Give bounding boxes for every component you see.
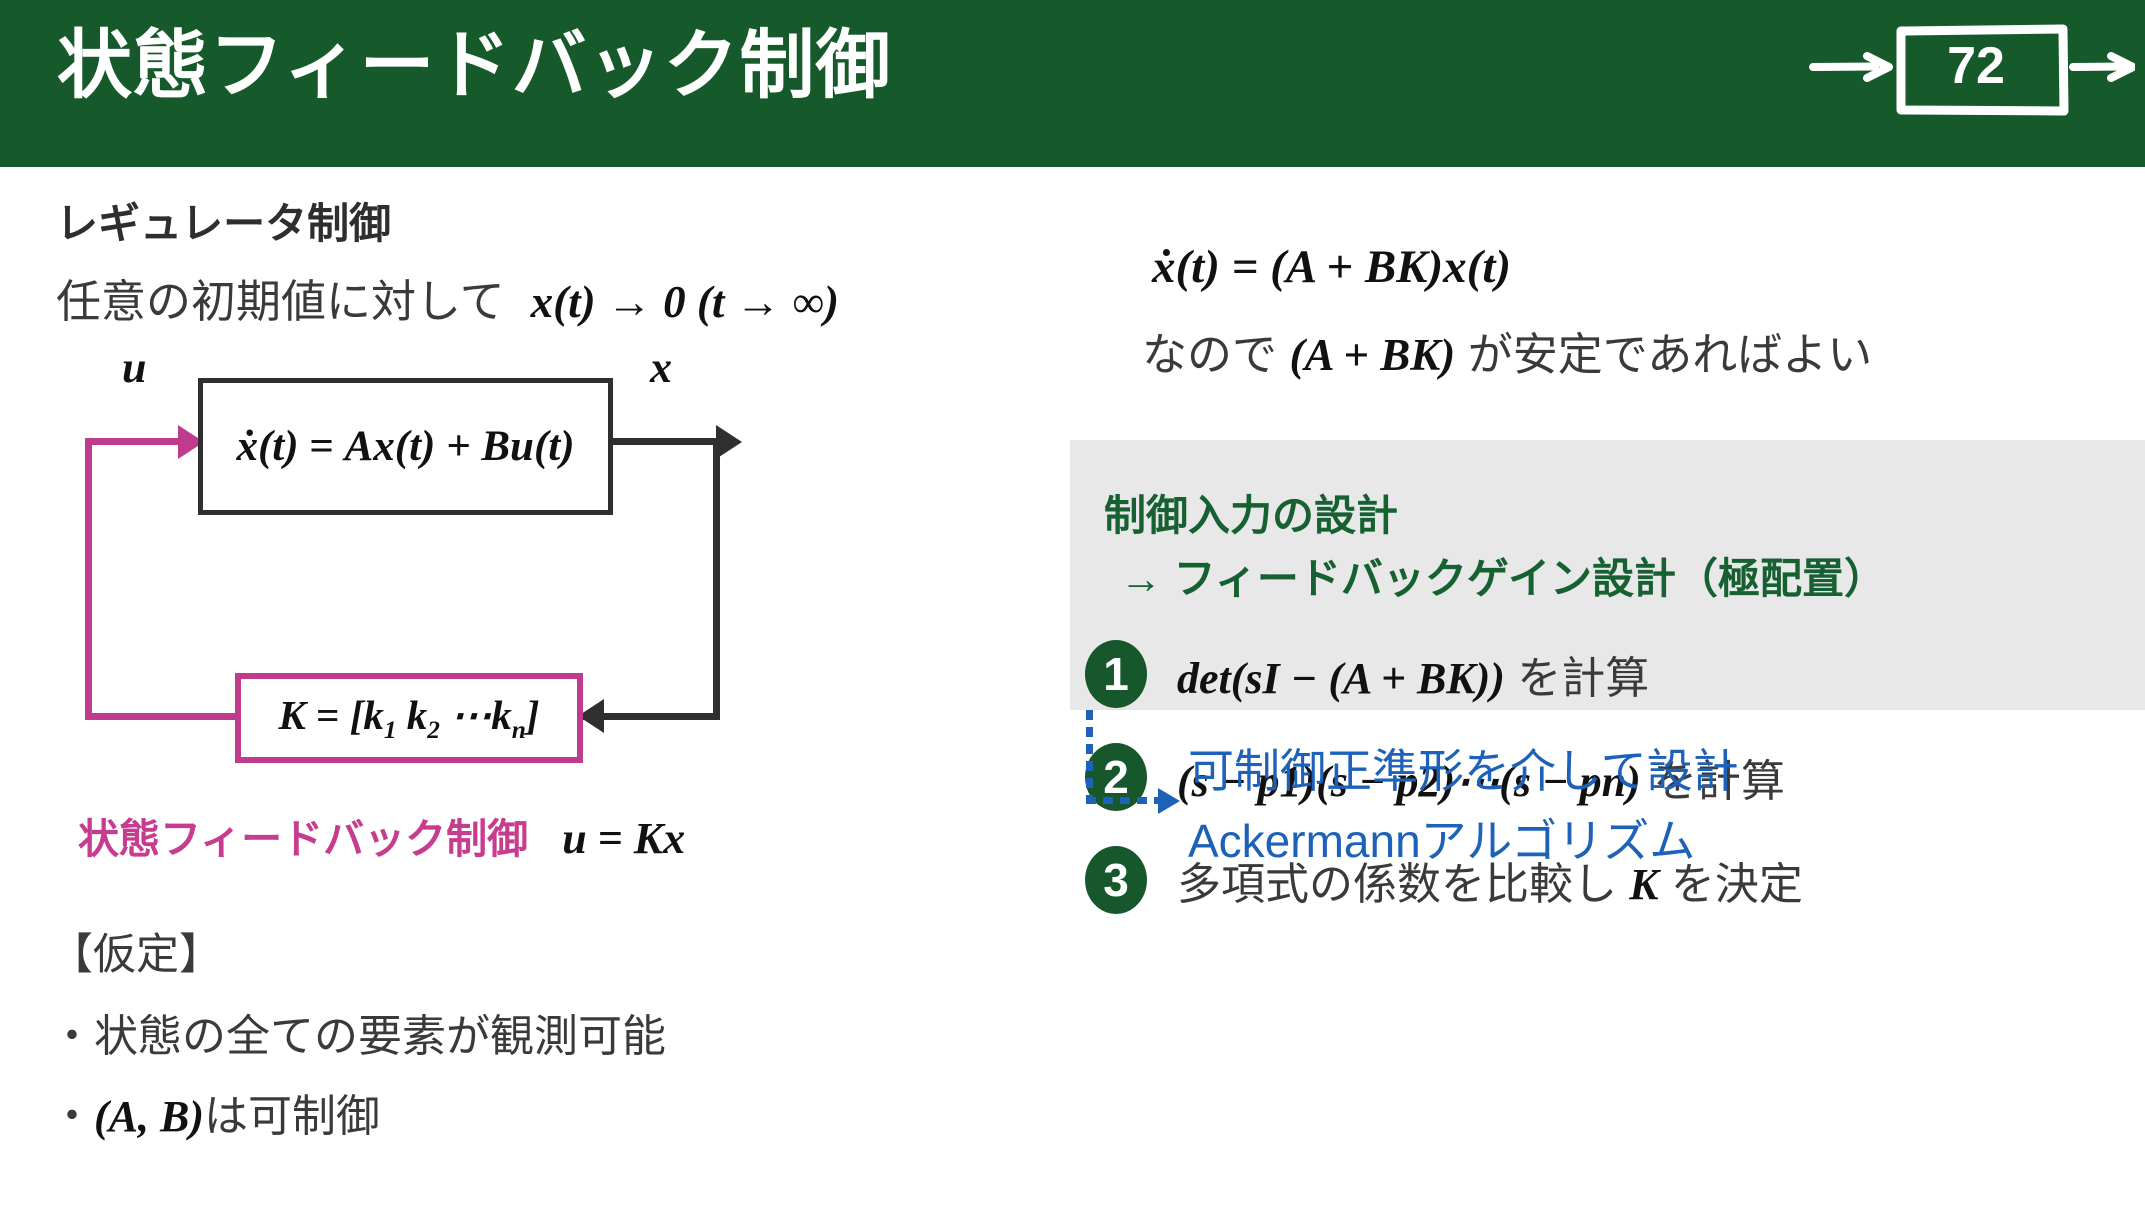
page-number-text: 72 — [1805, 16, 2135, 116]
state-feedback-caption-math: u = Kx — [562, 814, 685, 863]
block-diagram: u x ẋ(t) = Ax(t) + Bu(t) K = [k1 k2 ⋯kn] — [0, 370, 1050, 790]
wire-gain-output — [85, 713, 242, 720]
diagram-input-label: u — [122, 342, 146, 393]
assumption-item-2-math: (A, B) — [94, 1092, 204, 1141]
step-content: det(sI − (A + BK)) を計算 — [1177, 642, 1649, 706]
condition-line: 任意の初期値に対してx(t) → 0 (t → ∞) — [56, 265, 839, 330]
closed-loop-equation: ẋ(t) = (A + BK)x(t) — [1152, 240, 1511, 294]
stability-math: (A + BK) — [1290, 330, 1456, 380]
step-math: det(sI − (A + BK)) — [1177, 654, 1505, 703]
step-number-badge: 3 — [1085, 846, 1147, 914]
stability-prefix: なので — [1142, 329, 1277, 380]
design-step: 1 det(sI − (A + BK)) を計算 — [1085, 634, 2145, 737]
assumption-item-2-bullet: ・ — [50, 1092, 94, 1141]
state-feedback-caption: 状態フィードバック制御u = Kx — [78, 805, 685, 865]
state-feedback-caption-label: 状態フィードバック制御 — [78, 816, 528, 862]
slide-root: 状態フィードバック制御 72 レギュレータ制御 任意の初期値に対してx(t) →… — [0, 0, 2145, 1208]
diagram-output-label: x — [650, 342, 672, 393]
assumption-heading: 【仮定】 — [50, 920, 222, 982]
gain-block: K = [k1 k2 ⋯kn] — [235, 673, 583, 763]
footnote-line-1: 可制御正準形を介して設計 — [1188, 735, 1739, 801]
wire-input-vertical — [85, 438, 92, 720]
footnote-line-2: Ackermannアルゴリズム — [1188, 805, 1695, 871]
page-title: 状態フィードバック制御 — [57, 24, 892, 107]
condition-text: 任意の初期値に対して — [56, 276, 505, 327]
condition-math: x(t) → 0 (t → ∞) — [531, 277, 839, 327]
assumption-item-1: ・状態の全ての要素が観測可能 — [50, 1000, 666, 1064]
step-number-badge: 1 — [1085, 640, 1147, 708]
page-number-badge: 72 — [1805, 16, 2135, 116]
wire-output-horizontal — [613, 438, 723, 445]
stability-statement: なので (A + BK) が安定であればよい — [1142, 318, 1872, 383]
design-panel-heading-1: 制御入力の設計 — [1104, 482, 1398, 543]
gain-equation: K = [k1 k2 ⋯kn] — [278, 691, 539, 745]
dotted-connector-horizontal — [1086, 797, 1162, 804]
step-label: を計算 — [1517, 654, 1649, 703]
wire-output-vertical — [713, 438, 720, 720]
assumption-item-2-text: は可制御 — [204, 1092, 380, 1141]
dotted-connector-vertical — [1086, 710, 1093, 804]
plant-equation: ẋ(t) = Ax(t) + Bu(t) — [236, 422, 574, 471]
stability-suffix: が安定であればよい — [1468, 329, 1873, 380]
design-panel-heading-2: → フィードバックゲイン設計（極配置） — [1120, 545, 1886, 606]
regulator-section-label: レギュレータ制御 — [56, 190, 391, 251]
arrow-output-icon — [716, 425, 742, 459]
assumption-item-2: ・(A, B)は可制御 — [50, 1080, 380, 1144]
slide-header: 状態フィードバック制御 72 — [0, 0, 2145, 167]
plant-block: ẋ(t) = Ax(t) + Bu(t) — [198, 378, 613, 515]
dotted-arrow-icon — [1158, 788, 1180, 814]
